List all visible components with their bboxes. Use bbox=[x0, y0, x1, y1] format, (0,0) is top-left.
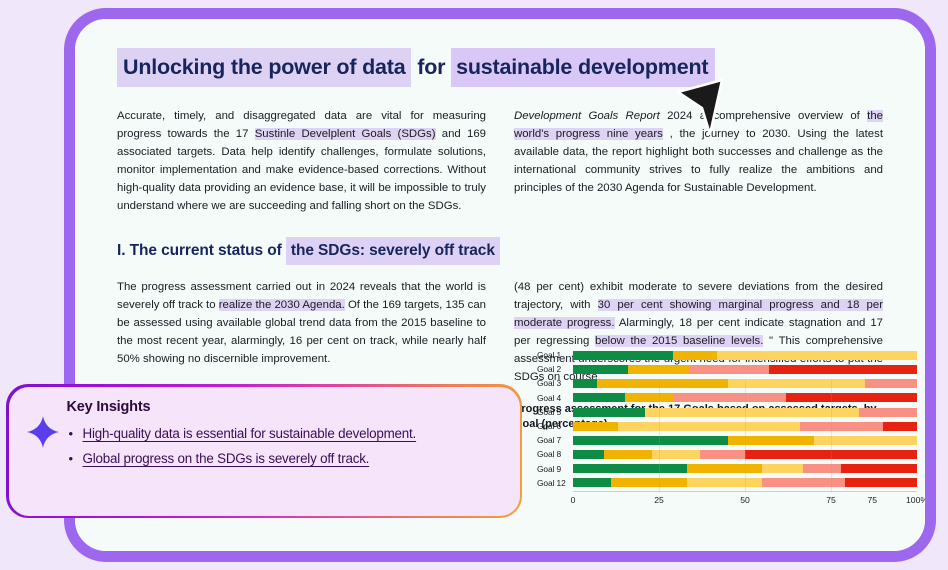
intro-column-left: Accurate, timely, and disaggregated data… bbox=[117, 107, 486, 215]
status-column-left: The progress assessment carried out in 2… bbox=[117, 278, 486, 386]
chart-axis-tick: 50 bbox=[740, 495, 750, 505]
chart-row-label: Goal 3 bbox=[537, 379, 573, 387]
status-right-highlight-2: below the 2015 baseline levels. bbox=[595, 335, 763, 347]
chart-bar-segment bbox=[728, 436, 814, 445]
chart-row-label: Goal 9 bbox=[537, 465, 573, 473]
chart-bar-segment bbox=[841, 464, 917, 473]
chart-bar-segment bbox=[690, 365, 769, 374]
chart-gridline bbox=[831, 380, 832, 492]
chart-bar-segment bbox=[573, 464, 687, 473]
chart-bar-segment bbox=[700, 450, 745, 459]
chart-bar-segment bbox=[573, 365, 628, 374]
chart-x-axis: 025507575100% bbox=[573, 491, 917, 509]
key-insights-card[interactable]: Key Insights High-quality data is essent… bbox=[6, 384, 522, 518]
key-insights-inner: Key Insights High-quality data is essent… bbox=[9, 387, 520, 516]
chart-gridline bbox=[659, 380, 660, 492]
chart-bar-segment bbox=[800, 422, 883, 431]
key-insight-item[interactable]: High-quality data is essential for susta… bbox=[67, 423, 504, 445]
intro-column-right: Development Goals Report 2024 a comprehe… bbox=[514, 107, 883, 215]
chart-row-label: Goal 4 bbox=[537, 394, 573, 402]
chart-bar-segment bbox=[618, 422, 800, 431]
section-heading-plain: I. The current status of bbox=[117, 242, 286, 259]
chart-bar-segment bbox=[769, 365, 917, 374]
chart-row: Goal 7 bbox=[537, 434, 917, 447]
section-heading-highlight: the SDGs: severely off track bbox=[286, 237, 500, 265]
chart-bar-segment bbox=[687, 464, 763, 473]
chart-bar-segment bbox=[573, 478, 611, 487]
chart-bar-segment bbox=[625, 393, 673, 402]
chart-bar-segment bbox=[673, 351, 718, 360]
chart-bar-segment bbox=[645, 408, 858, 417]
chart-bar-segment bbox=[845, 478, 917, 487]
progress-bar-chart: Goal 1Goal 2Goal 3Goal 4Goal 5Goal 6Goal… bbox=[537, 349, 917, 519]
chart-bar-segment bbox=[762, 464, 803, 473]
chart-row: Goal 9 bbox=[537, 463, 917, 476]
intro-left-text-2: and 169 associated targets. Data help id… bbox=[117, 128, 486, 212]
status-left-highlight-1: realize the 2030 Agenda. bbox=[219, 299, 345, 311]
chart-row: Goal 8 bbox=[537, 448, 917, 461]
sparkle-icon bbox=[23, 399, 63, 449]
chart-bar-segment bbox=[573, 408, 645, 417]
chart-gridline bbox=[745, 380, 746, 492]
chart-bar-segment bbox=[865, 379, 917, 388]
chart-row: Goal 2 bbox=[537, 363, 917, 376]
chart-bar-segment bbox=[803, 464, 841, 473]
chart-row: Goal 6 bbox=[537, 420, 917, 433]
chart-bar-segment bbox=[573, 351, 673, 360]
chart-row: Goal 12 bbox=[537, 477, 917, 490]
chart-axis-tick: 75 bbox=[826, 495, 836, 505]
intro-columns: Accurate, timely, and disaggregated data… bbox=[117, 107, 883, 215]
chart-bar-segment bbox=[573, 436, 728, 445]
chart-axis-tick: 75 bbox=[867, 495, 877, 505]
chart-bar-segment bbox=[611, 478, 687, 487]
chart-bar-segment bbox=[573, 450, 604, 459]
chart-bar-segment bbox=[717, 351, 917, 360]
chart-bar-segment bbox=[687, 478, 763, 487]
chart-bar-segment bbox=[573, 379, 597, 388]
chart-bar-segment bbox=[883, 422, 917, 431]
key-insight-text: High-quality data is essential for susta… bbox=[83, 426, 417, 441]
chart-bar-segment bbox=[673, 393, 787, 402]
title-connector: for bbox=[411, 55, 451, 79]
chart-rows: Goal 1Goal 2Goal 3Goal 4Goal 5Goal 6Goal… bbox=[537, 349, 917, 489]
key-insights-body: Key Insights High-quality data is essent… bbox=[63, 399, 504, 474]
key-insight-item[interactable]: Global progress on the SDGs is severely … bbox=[67, 448, 504, 470]
section-heading: I. The current status of the SDGs: sever… bbox=[117, 237, 883, 266]
intro-left-highlight-1: Sustinle Develplent Goals (SDGs) bbox=[255, 128, 436, 140]
chart-bar-segment bbox=[762, 478, 845, 487]
chart-axis-tick: 0 bbox=[571, 495, 576, 505]
chart-bar-segment bbox=[597, 379, 728, 388]
chart-axis-tick: 25 bbox=[654, 495, 664, 505]
chart-bar-segment bbox=[573, 422, 618, 431]
chart-row: Goal 3 bbox=[537, 377, 917, 390]
intro-left-paragraph: Accurate, timely, and disaggregated data… bbox=[117, 107, 486, 215]
chart-bar bbox=[573, 365, 917, 374]
key-insights-title: Key Insights bbox=[67, 399, 504, 415]
chart-row-label: Goal 7 bbox=[537, 436, 573, 444]
intro-right-text-2: a comprehensive overview of bbox=[700, 110, 867, 122]
chart-row-label: Goal 12 bbox=[537, 479, 573, 487]
key-insights-list: High-quality data is essential for susta… bbox=[67, 423, 504, 470]
chart-bar-segment bbox=[859, 408, 917, 417]
chart-bar-segment bbox=[728, 379, 866, 388]
chart-row: Goal 4 bbox=[537, 392, 917, 405]
page-title: Unlocking the power of data for sustaina… bbox=[117, 47, 883, 89]
chart-row-label: Goal 5 bbox=[537, 408, 573, 416]
screenshot-root: Unlocking the power of data for sustaina… bbox=[0, 0, 948, 570]
intro-right-text-1: 2024 bbox=[660, 110, 700, 122]
chart-row: Goal 5 bbox=[537, 406, 917, 419]
chart-row-label: Goal 1 bbox=[537, 351, 573, 359]
chart-bar-segment bbox=[573, 393, 625, 402]
intro-right-paragraph: Development Goals Report 2024 a comprehe… bbox=[514, 107, 883, 197]
chart-bar-segment bbox=[628, 365, 690, 374]
chart-bar bbox=[573, 351, 917, 360]
status-left-paragraph: The progress assessment carried out in 2… bbox=[117, 278, 486, 368]
key-insight-text: Global progress on the SDGs is severely … bbox=[83, 451, 370, 466]
chart-bar-segment bbox=[604, 450, 652, 459]
chart-row: Goal 1 bbox=[537, 349, 917, 362]
title-part-1: Unlocking the power of data bbox=[117, 48, 411, 87]
chart-bar-segment bbox=[814, 436, 917, 445]
chart-row-label: Goal 2 bbox=[537, 365, 573, 373]
chart-bar-segment bbox=[786, 393, 917, 402]
chart-row-label: Goal 6 bbox=[537, 422, 573, 430]
title-part-2: sustainable development bbox=[451, 48, 715, 87]
chart-row-label: Goal 8 bbox=[537, 450, 573, 458]
chart-axis-tick: 100% bbox=[906, 495, 928, 505]
intro-right-italic-title: Development Goals Report bbox=[514, 110, 660, 122]
